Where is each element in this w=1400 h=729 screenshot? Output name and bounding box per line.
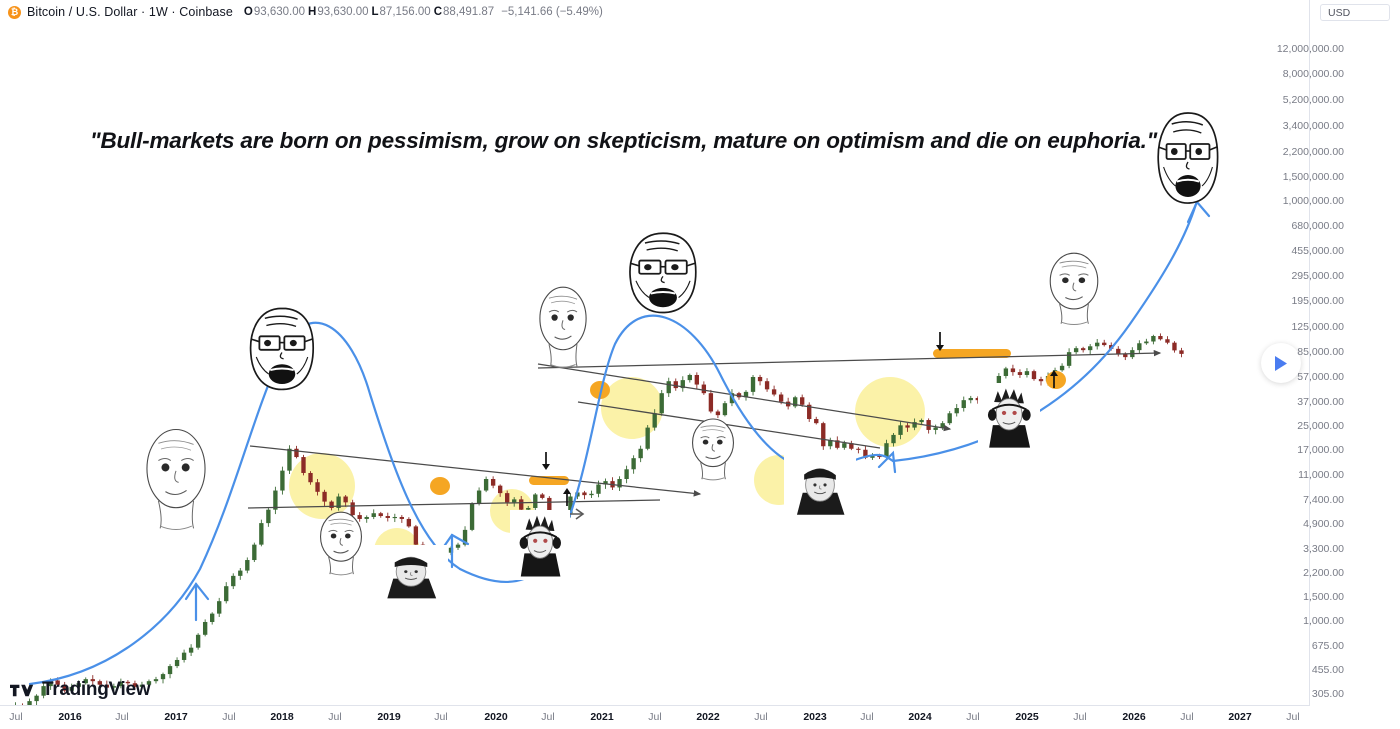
time-tick: 2024: [908, 711, 931, 723]
price-tick: 295,000.00: [1291, 270, 1344, 282]
ohlc-low-key: L: [372, 6, 379, 18]
candle-body: [589, 494, 593, 495]
zoomer-disbelief-2020: [510, 510, 570, 580]
time-tick: 2016: [58, 711, 81, 723]
candle-body: [582, 492, 586, 495]
candle-body: [905, 425, 909, 427]
candle-body: [168, 666, 172, 674]
soyjak-euphoria-2021: [630, 233, 696, 312]
candle-body: [1102, 343, 1106, 345]
interval-label[interactable]: 1W: [149, 5, 168, 19]
candle-body: [315, 482, 319, 492]
price-tick: 17,000.00: [1297, 444, 1344, 456]
candle-body: [252, 545, 256, 560]
candle-body: [526, 508, 530, 510]
time-tick: 2025: [1015, 711, 1038, 723]
wojak-pessimism-2016: [147, 430, 205, 530]
candle-body: [343, 497, 347, 503]
npc-capitulation-2023: [784, 455, 856, 520]
euphoria-zone-2018-circle: [289, 453, 355, 519]
candle-body: [1137, 343, 1141, 350]
candle-body: [653, 413, 657, 427]
price-tick: 125,000.00: [1291, 321, 1344, 333]
wojak-optimism-2020: [540, 287, 586, 367]
candle-body: [350, 502, 354, 515]
candle-body: [948, 413, 952, 423]
ohlc-values: O93,630.00 H93,630.00 L87,156.00 C88,491…: [244, 6, 603, 18]
time-tick: Jul: [1073, 711, 1086, 723]
soyjak-euphoria-2026: [1158, 113, 1217, 203]
chart-plot-area[interactable]: [0, 24, 1310, 706]
euphoria-zone-2021-circle: [601, 377, 663, 439]
candle-body: [1123, 354, 1127, 357]
candle-body: [182, 653, 186, 660]
bitcoin-icon: ₿: [8, 6, 21, 19]
price-tick: 680,000.00: [1291, 220, 1344, 232]
price-tick: 3,400,000.00: [1283, 120, 1344, 132]
candle-body: [1081, 348, 1085, 350]
price-tick: 37,000.00: [1297, 396, 1344, 408]
ohlc-close: C88,491.87: [434, 6, 494, 18]
candle-body: [1067, 352, 1071, 366]
soyjak-euphoria-2018: [251, 308, 314, 389]
ohlc-close-key: C: [434, 6, 442, 18]
currency-selector[interactable]: USD: [1320, 4, 1390, 21]
candle-body: [322, 492, 326, 502]
cycle-curve-3[interactable]: [893, 204, 1196, 461]
ohlc-open-key: O: [244, 6, 253, 18]
candle-body: [456, 545, 460, 548]
candle-body: [716, 411, 720, 415]
candle-body: [821, 423, 825, 446]
time-tick: Jul: [1180, 711, 1193, 723]
candle-body: [1144, 342, 1148, 344]
candle-body: [477, 491, 481, 504]
candle-body: [624, 469, 628, 479]
candle-body: [217, 601, 221, 613]
candle-body: [758, 377, 762, 381]
resistance-line-2024-2026[interactable]: [538, 353, 1160, 368]
price-tick: 4,900.00: [1303, 518, 1344, 530]
price-tick: 2,200.00: [1303, 567, 1344, 579]
candle-body: [301, 457, 305, 473]
meme-overlays: [147, 113, 1218, 603]
time-tick: Jul: [9, 711, 22, 723]
candle-body: [1172, 343, 1176, 351]
candle-body: [765, 381, 769, 389]
price-tick: 11,000.00: [1298, 469, 1344, 481]
candle-body: [842, 443, 846, 448]
candle-body: [294, 449, 298, 457]
time-tick: Jul: [860, 711, 873, 723]
candle-body: [540, 494, 544, 497]
candle-body: [259, 523, 263, 545]
candle-body: [245, 560, 249, 571]
candle-body: [772, 389, 776, 394]
price-tick: 1,000,000.00: [1283, 195, 1344, 207]
price-tick: 8,000,000.00: [1283, 68, 1344, 80]
candle-body: [210, 614, 214, 622]
ohlc-open: O93,630.00: [244, 6, 305, 18]
wojak-skepticism-2018: [321, 512, 362, 575]
breakout-dot-2020: [430, 477, 450, 495]
price-tick: 195,000.00: [1291, 295, 1344, 307]
price-tick: 85,000.00: [1297, 346, 1344, 358]
reclaim-arrow-2020-head: [563, 488, 571, 494]
ohlc-high-value: 93,630.00: [317, 6, 368, 18]
tradingview-watermark: TradingView: [10, 679, 150, 701]
candle-body: [175, 660, 179, 666]
ohlc-close-value: 88,491.87: [443, 6, 494, 18]
candle-body: [491, 479, 495, 486]
npc-depression-2019: [374, 545, 448, 603]
price-tick: 455.00: [1312, 664, 1344, 676]
legend-separator-2: ·: [171, 5, 175, 19]
time-tick: 2021: [590, 711, 613, 723]
time-tick: Jul: [222, 711, 235, 723]
candle-body: [941, 423, 945, 427]
exchange-label: Coinbase: [179, 5, 233, 19]
candle-body: [231, 576, 235, 586]
candle-body: [1095, 343, 1099, 347]
rejection-arrow-2020-head: [542, 464, 550, 470]
chart-canvas: [0, 24, 1310, 706]
time-tick: Jul: [648, 711, 661, 723]
candle-body: [161, 674, 165, 679]
candle-body: [638, 449, 642, 458]
candle-body: [1179, 350, 1183, 354]
candle-body: [891, 435, 895, 443]
candle-body: [702, 385, 706, 394]
ohlc-low-value: 87,156.00: [380, 6, 431, 18]
symbol-title[interactable]: Bitcoin / U.S. Dollar · 1W · Coinbase: [27, 5, 233, 19]
tradingview-wordmark: TradingView: [42, 679, 150, 701]
candle-body: [224, 586, 228, 601]
candle-body: [484, 479, 488, 491]
candle-body: [596, 485, 600, 494]
price-tick: 675.00: [1312, 640, 1344, 652]
price-tick: 1,000.00: [1303, 615, 1344, 627]
time-tick: 2023: [803, 711, 826, 723]
candle-body: [884, 443, 888, 457]
price-tick: 5,200,000.00: [1283, 94, 1344, 106]
time-tick: 2020: [484, 711, 507, 723]
candle-body: [308, 473, 312, 482]
candle-body: [933, 428, 937, 430]
candle-body: [1074, 348, 1078, 352]
price-tick: 2,200,000.00: [1283, 146, 1344, 158]
candle-body: [1165, 339, 1169, 342]
time-tick: 2022: [696, 711, 719, 723]
wojak-optimism-2025: [1050, 253, 1098, 324]
candle-body: [667, 381, 671, 393]
price-tick: 1,500.00: [1303, 591, 1344, 603]
time-axis[interactable]: Jul2016Jul2017Jul2018Jul2019Jul2020Jul20…: [0, 705, 1310, 729]
ohlc-high-key: H: [308, 6, 316, 18]
candle-body: [1039, 379, 1043, 381]
candle-body: [372, 513, 376, 517]
candle-body: [238, 571, 242, 576]
candle-body: [547, 498, 551, 512]
price-tick: 1,500,000.00: [1283, 171, 1344, 183]
candle-body: [645, 428, 649, 449]
candle-body: [856, 449, 860, 450]
candle-body: [519, 499, 523, 509]
cycle-curve-1[interactable]: [30, 323, 460, 684]
candle-body: [898, 425, 902, 435]
candle-body: [1018, 372, 1022, 375]
ohlc-open-value: 93,630.00: [254, 6, 305, 18]
accumulation-zone-2024-circle: [855, 377, 925, 447]
legend-separator-1: ·: [141, 5, 145, 19]
candle-body: [505, 493, 509, 502]
candle-body: [358, 515, 362, 519]
time-tick: 2018: [270, 711, 293, 723]
price-tick: 25,000.00: [1297, 420, 1344, 432]
candle-body: [1060, 366, 1064, 370]
play-button[interactable]: [1261, 343, 1301, 383]
chart-legend-bar[interactable]: ₿ Bitcoin / U.S. Dollar · 1W · Coinbase …: [0, 0, 1318, 24]
candle-body: [280, 471, 284, 491]
time-tick: 2027: [1228, 711, 1251, 723]
candle-body: [751, 377, 755, 392]
candle-body: [393, 517, 397, 518]
candle-body: [814, 419, 818, 423]
candle-body: [1032, 371, 1036, 379]
symbol-name: Bitcoin / U.S. Dollar: [27, 5, 137, 19]
candle-body: [1151, 336, 1155, 342]
candle-body: [779, 395, 783, 402]
candle-body: [154, 679, 158, 681]
candle-body: [386, 516, 390, 518]
candle-body: [1025, 371, 1029, 375]
candle-body: [365, 517, 369, 519]
price-tick: 57,000.00: [1297, 371, 1344, 383]
candle-body: [379, 513, 383, 516]
price-tick: 12,000,000.00: [1277, 43, 1344, 55]
candle-body: [287, 449, 291, 471]
candle-body: [407, 519, 411, 526]
candle-body: [631, 458, 635, 469]
time-tick: Jul: [115, 711, 128, 723]
candle-body: [266, 510, 270, 523]
time-tick: 2026: [1122, 711, 1145, 723]
candle-body: [196, 635, 200, 648]
wojak-pessimism-2022: [693, 419, 734, 480]
candle-body: [498, 486, 502, 493]
candle-body: [688, 375, 692, 380]
time-tick: 2019: [377, 711, 400, 723]
candle-body: [189, 648, 193, 653]
price-tick: 455,000.00: [1291, 245, 1344, 257]
price-tick: 3,300.00: [1303, 543, 1344, 555]
time-tick: Jul: [328, 711, 341, 723]
price-tick: 7,400.00: [1303, 494, 1344, 506]
candle-body: [969, 398, 973, 400]
candle-body: [1004, 368, 1008, 376]
candle-body: [800, 397, 804, 404]
time-tick: Jul: [754, 711, 767, 723]
candle-body: [414, 526, 418, 544]
time-tick: Jul: [1286, 711, 1299, 723]
candle-body: [962, 400, 966, 408]
zoomer-skepticism-2024: [978, 383, 1040, 451]
play-triangle-icon: [1273, 355, 1289, 372]
candle-body: [533, 494, 537, 508]
candle-body: [1011, 368, 1015, 372]
time-tick: Jul: [966, 711, 979, 723]
time-tick: Jul: [541, 711, 554, 723]
candle-body: [919, 420, 923, 422]
candle-body: [470, 504, 474, 530]
tradingview-logo-icon: [10, 682, 36, 699]
candle-body: [955, 408, 959, 413]
candle-body: [1158, 336, 1162, 339]
candle-body: [709, 393, 713, 411]
time-tick: 2017: [164, 711, 187, 723]
candle-body: [400, 517, 404, 519]
candle-body: [674, 381, 678, 388]
candle-body: [512, 499, 516, 502]
candle-body: [723, 403, 727, 415]
candle-body: [660, 393, 664, 413]
time-tick: Jul: [434, 711, 447, 723]
candle-body: [1088, 346, 1092, 350]
price-tick: 305.00: [1312, 688, 1344, 700]
ohlc-low: L87,156.00: [372, 6, 431, 18]
quote-annotation: "Bull-markets are born on pessimism, gro…: [90, 128, 1140, 154]
price-change: −5,141.66 (−5.49%): [501, 6, 603, 18]
candle-body: [203, 622, 207, 635]
price-axis[interactable]: USD 12,000,000.008,000,000.005,200,000.0…: [1309, 0, 1400, 706]
candle-body: [695, 375, 699, 385]
candle-body: [273, 491, 277, 510]
tradingview-chart-root: ₿ Bitcoin / U.S. Dollar · 1W · Coinbase …: [0, 0, 1400, 729]
ohlc-high: H93,630.00: [308, 6, 368, 18]
